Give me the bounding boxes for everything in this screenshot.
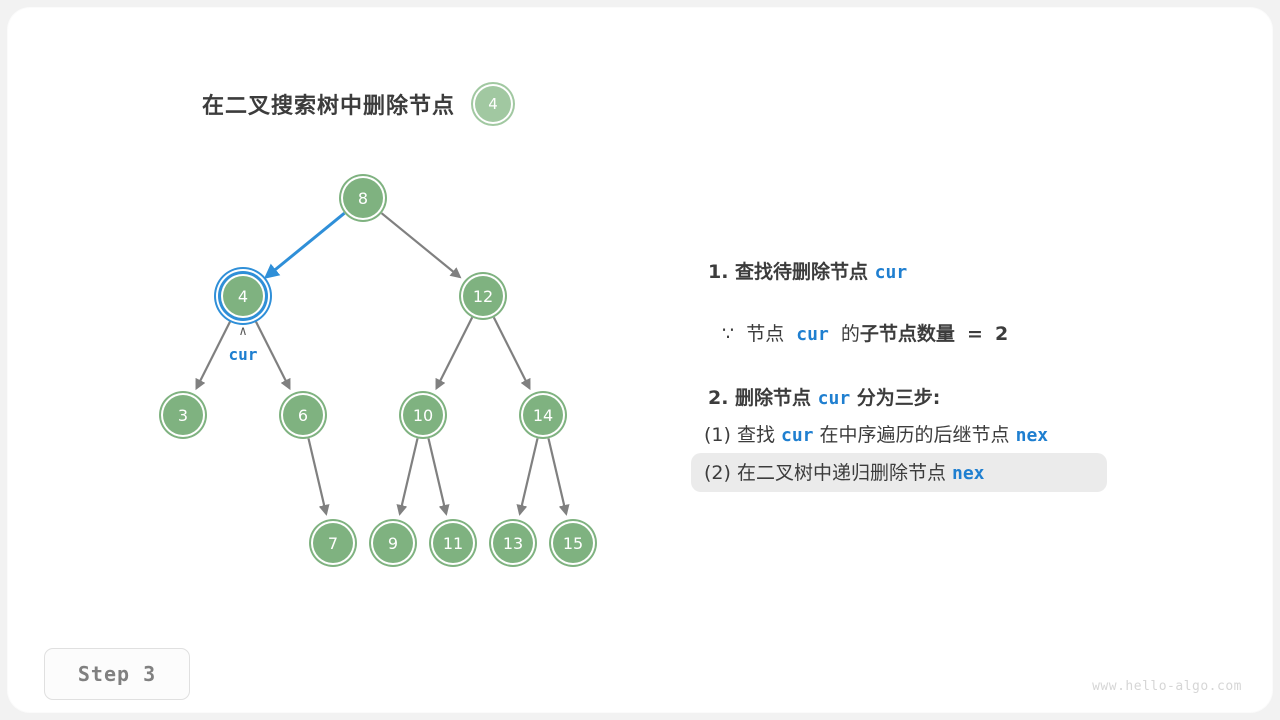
- tree-node-11: 11: [431, 521, 475, 565]
- tree-node-3: 3: [161, 393, 205, 437]
- tree-edge-4-3: [197, 317, 233, 388]
- note-3-suffix: 分为三步:: [850, 387, 940, 409]
- tree-node-8: 8: [341, 176, 385, 220]
- note-5-keyword-nex: nex: [952, 463, 985, 484]
- note-line-5: (2) 在二叉树中递归删除节点 nex: [704, 464, 985, 483]
- step-badge: Step 3: [44, 648, 190, 700]
- note-1-keyword-cur: cur: [875, 262, 908, 283]
- note-4-mid: 在中序遍历的后继节点: [814, 424, 1016, 446]
- note-5-prefix: (2) 在二叉树中递归删除节点: [704, 462, 952, 484]
- screenshot-stage: 在二叉搜索树中删除节点 4 841236101479111315∧cur 1. …: [0, 0, 1280, 720]
- note-3-keyword-cur: cur: [818, 388, 851, 409]
- tree-edge-10-9: [400, 438, 418, 513]
- note-2-seg1: 节点: [746, 323, 784, 345]
- content-card: 在二叉搜索树中删除节点 4 841236101479111315∧cur 1. …: [8, 8, 1272, 712]
- note-line-4: (1) 查找 cur 在中序遍历的后继节点 nex: [704, 426, 1048, 445]
- note-2-equals: =: [967, 323, 983, 345]
- note-line-1: 1. 查找待删除节点 cur: [708, 263, 907, 282]
- note-2-seg2: 的: [841, 323, 860, 345]
- note-3-prefix: 2. 删除节点: [708, 387, 818, 409]
- note-4-keyword-nex: nex: [1016, 425, 1049, 446]
- tree-edge-12-14: [494, 317, 530, 388]
- note-2-count: 2: [995, 323, 1008, 345]
- tree-edge-8-4: [266, 213, 344, 277]
- tree-edge-14-15: [548, 438, 566, 513]
- cur-pointer-caret-icon: ∧: [239, 324, 247, 339]
- note-2-seg3: 子节点数量: [860, 323, 955, 345]
- note-4-prefix: (1) 查找: [704, 424, 781, 446]
- tree-node-14: 14: [521, 393, 565, 437]
- note-4-keyword-cur: cur: [781, 425, 814, 446]
- tree-node-7: 7: [311, 521, 355, 565]
- tree-node-15: 15: [551, 521, 595, 565]
- tree-edge-10-11: [428, 438, 446, 513]
- tree-node-13: 13: [491, 521, 535, 565]
- tree-edge-4-6: [254, 317, 290, 388]
- tree-node-10: 10: [401, 393, 445, 437]
- because-symbol: ∵: [722, 323, 734, 345]
- note-2-keyword-cur: cur: [796, 324, 829, 345]
- tree-node-6: 6: [281, 393, 325, 437]
- tree-node-4: 4: [221, 274, 265, 318]
- tree-edge-12-10: [437, 317, 473, 388]
- tree-node-12: 12: [461, 274, 505, 318]
- note-line-3: 2. 删除节点 cur 分为三步:: [708, 389, 940, 408]
- cur-pointer-label: cur: [229, 345, 258, 364]
- note-line-2: ∵ 节点 cur 的子节点数量 = 2: [722, 325, 1008, 344]
- tree-edge-6-7: [308, 438, 326, 513]
- tree-node-9: 9: [371, 521, 415, 565]
- tree-edge-14-13: [520, 438, 538, 513]
- tree-edge-8-12: [382, 213, 460, 277]
- note-1-prefix: 1. 查找待删除节点: [708, 261, 875, 283]
- watermark: www.hello-algo.com: [1092, 679, 1242, 694]
